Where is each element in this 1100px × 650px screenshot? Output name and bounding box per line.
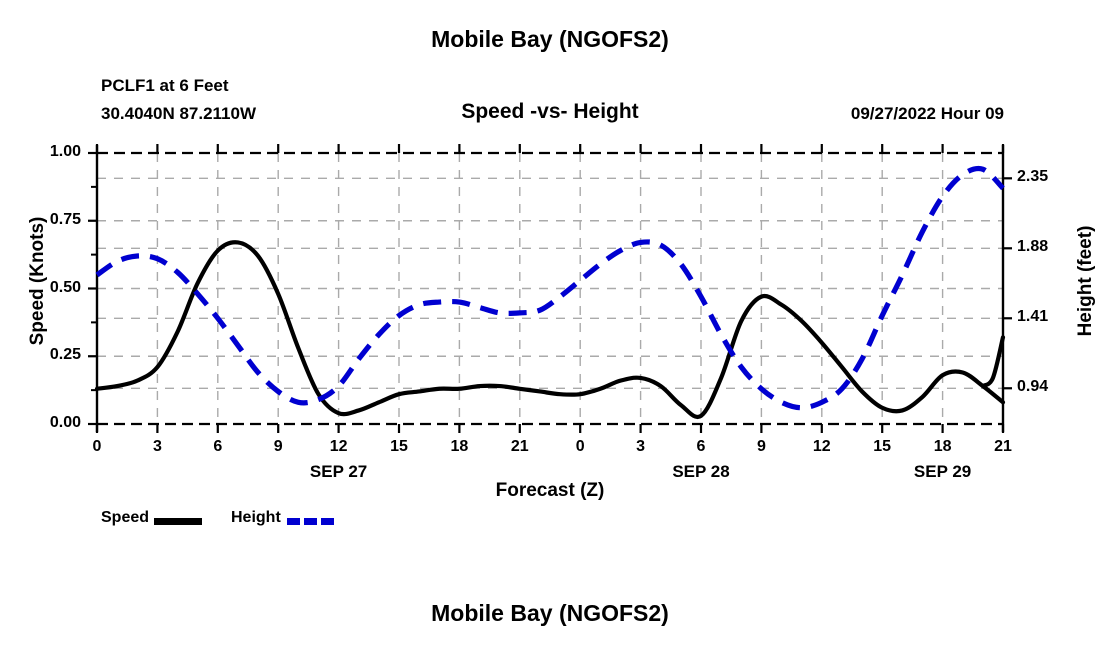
x-axis-tick: 0 <box>77 438 117 456</box>
bottom-title: Mobile Bay (NGOFS2) <box>0 600 1100 627</box>
legend-label-height: Height <box>231 509 281 527</box>
x-axis-tick: 12 <box>319 438 359 456</box>
y-axis-right-tick: 0.94 <box>1017 378 1077 396</box>
speed-height-chart <box>0 0 1100 650</box>
x-axis-tick: 3 <box>137 438 177 456</box>
y-axis-left-tick: 1.00 <box>29 143 81 161</box>
legend-label-speed: Speed <box>101 509 149 527</box>
x-axis-tick: 3 <box>621 438 661 456</box>
x-axis-day-label: SEP 29 <box>883 462 1003 482</box>
x-axis-tick: 18 <box>923 438 963 456</box>
y-axis-right-title: Height (feet) <box>1075 201 1097 361</box>
series-line-speed <box>97 242 1003 417</box>
y-axis-left-tick: 0.75 <box>29 211 81 229</box>
x-axis-tick: 9 <box>741 438 781 456</box>
x-axis-tick: 6 <box>681 438 721 456</box>
chart-page: Mobile Bay (NGOFS2) PCLF1 at 6 Feet 30.4… <box>0 0 1100 650</box>
x-axis-tick: 0 <box>560 438 600 456</box>
x-axis-day-label: SEP 27 <box>279 462 399 482</box>
x-axis-tick: 15 <box>862 438 902 456</box>
x-axis-tick: 21 <box>983 438 1023 456</box>
series-line-speed-tail <box>983 337 1003 386</box>
x-axis-tick: 18 <box>439 438 479 456</box>
legend-swatch-height <box>287 518 335 525</box>
y-axis-right-tick: 1.41 <box>1017 308 1077 326</box>
x-axis-tick: 21 <box>500 438 540 456</box>
y-axis-left-tick: 0.25 <box>29 346 81 364</box>
legend-swatch-speed <box>154 518 202 525</box>
x-axis-tick: 15 <box>379 438 419 456</box>
y-axis-left-tick: 0.00 <box>29 414 81 432</box>
y-axis-left-tick: 0.50 <box>29 279 81 297</box>
y-axis-right-tick: 2.35 <box>1017 168 1077 186</box>
y-axis-right-tick: 1.88 <box>1017 238 1077 256</box>
x-axis-title: Forecast (Z) <box>0 480 1100 502</box>
x-axis-day-label: SEP 28 <box>641 462 761 482</box>
x-axis-tick: 12 <box>802 438 842 456</box>
x-axis-tick: 9 <box>258 438 298 456</box>
x-axis-tick: 6 <box>198 438 238 456</box>
